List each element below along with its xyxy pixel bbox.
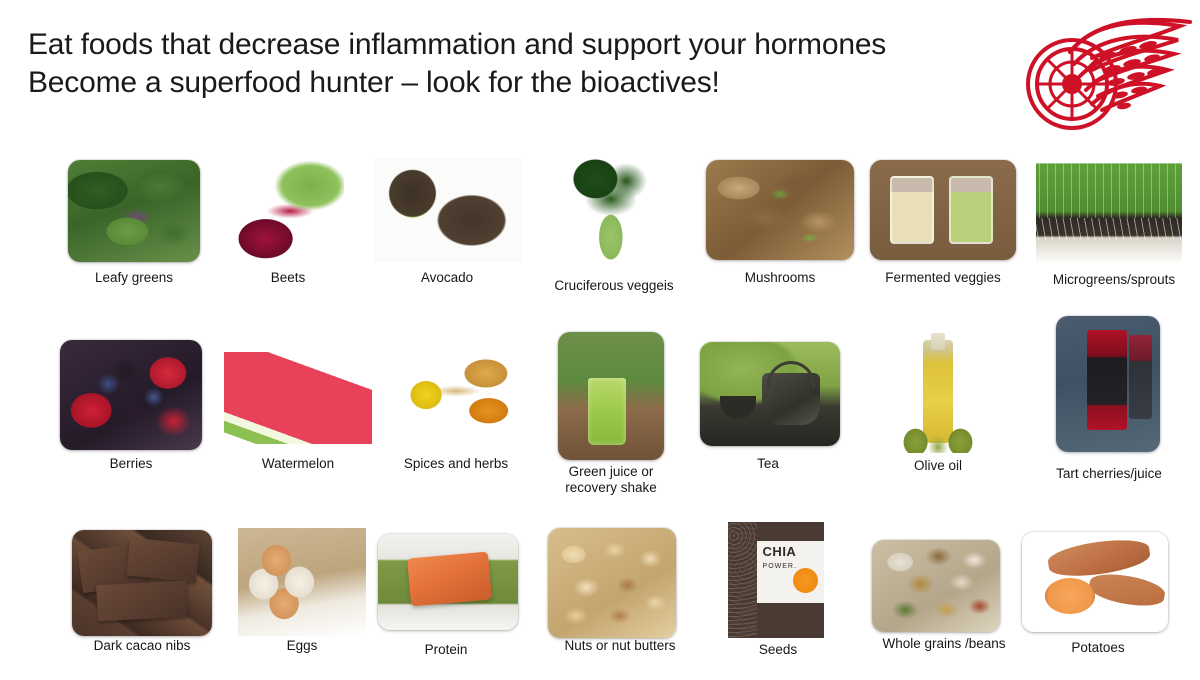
title-line-1: Eat foods that decrease inflammation and… bbox=[28, 26, 1028, 64]
beet-image bbox=[232, 156, 344, 262]
capBot-shape bbox=[757, 603, 824, 638]
food-thumbnail bbox=[60, 340, 202, 450]
broccoli-image bbox=[558, 152, 668, 264]
food-label: Watermelon bbox=[220, 456, 376, 472]
food-thumbnail: CHIAPOWER. bbox=[728, 522, 824, 638]
watermelon-image bbox=[224, 352, 372, 444]
food-thumbnail bbox=[558, 152, 668, 264]
neck-shape bbox=[931, 333, 944, 351]
food-thumbnail bbox=[700, 342, 840, 446]
pouchC-shape bbox=[1087, 330, 1127, 431]
food-thumbnail bbox=[706, 160, 854, 260]
food-thumbnail bbox=[224, 352, 372, 444]
title-line-2: Become a superfood hunter – look for the… bbox=[28, 64, 1028, 102]
food-thumbnail bbox=[374, 158, 522, 262]
food-label: Dark cacao nibs bbox=[68, 638, 216, 654]
food-label: Avocado bbox=[382, 270, 512, 286]
food-label: Berries bbox=[64, 456, 198, 472]
fillet-shape bbox=[407, 552, 492, 607]
bowl-shape bbox=[720, 396, 756, 419]
food-label: Leafy greens bbox=[68, 270, 200, 286]
food-thumbnail bbox=[238, 528, 366, 636]
food-label: Tart cherries/juice bbox=[1026, 466, 1192, 482]
food-label: Olive oil bbox=[874, 458, 1002, 474]
oliveoil-image bbox=[890, 330, 986, 456]
food-label: Seeds bbox=[726, 642, 830, 658]
food-label: Fermented veggies bbox=[866, 270, 1020, 286]
detroit-red-wings-logo-icon bbox=[1022, 12, 1196, 136]
mushroom-image bbox=[706, 160, 854, 260]
cacao-image bbox=[72, 530, 212, 636]
eggs-image bbox=[238, 528, 366, 636]
glass-shape bbox=[588, 378, 626, 445]
capTop-shape bbox=[757, 522, 824, 541]
food-label: Microgreens/sprouts bbox=[1036, 272, 1192, 288]
chia-image: CHIAPOWER. bbox=[728, 522, 824, 638]
food-label: Beets bbox=[228, 270, 348, 286]
cherry-image bbox=[1056, 316, 1160, 452]
food-label: Green juice or recovery shake bbox=[542, 464, 680, 496]
olives-shape bbox=[903, 426, 972, 454]
leafy-image bbox=[68, 160, 200, 262]
food-thumbnail bbox=[232, 156, 344, 262]
food-thumbnail bbox=[72, 530, 212, 636]
food-label: Tea bbox=[702, 456, 834, 472]
food-label: Eggs bbox=[248, 638, 356, 654]
food-label: Whole grains /beans bbox=[866, 636, 1022, 652]
jarB-shape bbox=[949, 176, 993, 244]
food-label: Potatoes bbox=[1024, 640, 1172, 656]
grains-image bbox=[872, 540, 1000, 632]
food-thumbnail bbox=[1022, 532, 1168, 632]
food-thumbnail bbox=[388, 348, 524, 446]
whole-shape bbox=[1047, 535, 1153, 581]
food-thumbnail bbox=[1036, 154, 1182, 264]
handle-shape bbox=[767, 361, 815, 388]
food-thumbnail bbox=[548, 528, 676, 638]
food-label: Spices and herbs bbox=[378, 456, 534, 472]
slab2-shape bbox=[126, 537, 200, 582]
slab3-shape bbox=[96, 581, 187, 622]
protein-image bbox=[378, 534, 518, 630]
roots-shape bbox=[1036, 218, 1182, 240]
food-thumbnail bbox=[558, 332, 664, 460]
avocado-image bbox=[374, 158, 522, 262]
slide-canvas: Eat foods that decrease inflammation and… bbox=[0, 0, 1200, 680]
food-thumbnail bbox=[378, 534, 518, 630]
whole2-shape bbox=[1087, 570, 1167, 611]
food-thumbnail bbox=[872, 540, 1000, 632]
berries-image bbox=[60, 340, 202, 450]
stems-shape bbox=[1036, 161, 1182, 218]
fermented-image bbox=[870, 160, 1016, 260]
food-label: Nuts or nut butters bbox=[540, 638, 700, 654]
potato-image bbox=[1022, 532, 1168, 632]
food-label: Protein bbox=[376, 642, 516, 658]
nuts-image bbox=[548, 528, 676, 638]
food-thumbnail bbox=[68, 160, 200, 262]
microgreens-image bbox=[1036, 154, 1182, 264]
food-thumbnail bbox=[1056, 316, 1160, 452]
page-title: Eat foods that decrease inflammation and… bbox=[28, 26, 1028, 102]
seedband-shape bbox=[728, 522, 757, 638]
sun-shape bbox=[793, 568, 818, 593]
spices-image bbox=[388, 348, 524, 446]
jarA-shape bbox=[890, 176, 934, 244]
cut-shape bbox=[1045, 578, 1095, 614]
food-thumbnail bbox=[870, 160, 1016, 260]
tea-image bbox=[700, 342, 840, 446]
greenjuice-image bbox=[558, 332, 664, 460]
pouchR-shape bbox=[1129, 335, 1152, 419]
pouchL-shape bbox=[1062, 338, 1087, 425]
chia-package-brand: CHIAPOWER. bbox=[763, 545, 797, 573]
food-thumbnail bbox=[890, 330, 986, 456]
food-label: Mushrooms bbox=[708, 270, 852, 286]
food-label: Cruciferous veggeis bbox=[548, 278, 680, 294]
